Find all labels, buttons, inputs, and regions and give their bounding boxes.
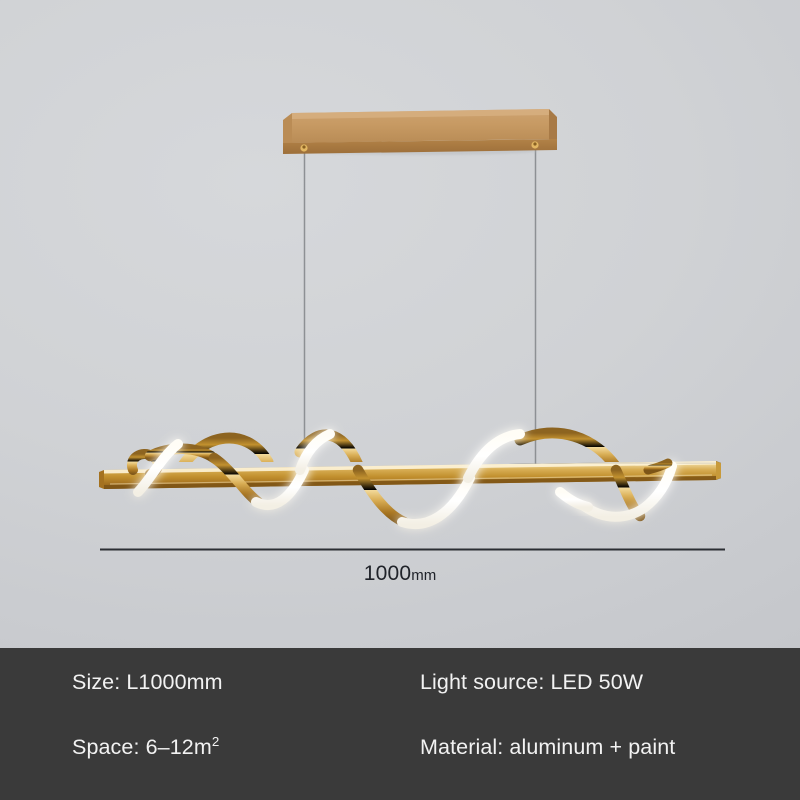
pendant-light-illustration xyxy=(0,0,800,648)
product-spec-image: 1000mm Size: L1000mm Light source: LED 5… xyxy=(0,0,800,800)
product-photo xyxy=(0,0,800,648)
spec-size: Size: L1000mm xyxy=(72,670,223,695)
spec-material: Material: aluminum + paint xyxy=(420,735,675,760)
spec-space: Space: 6–12m2 xyxy=(72,735,219,760)
ceiling-canopy xyxy=(283,109,557,155)
led-segment-7 xyxy=(560,492,588,507)
spec-space-superscript: 2 xyxy=(212,734,220,749)
led-segment-4 xyxy=(402,478,470,524)
spec-light-source: Light source: LED 50W xyxy=(420,670,643,695)
spec-space-text: Space: 6–12m xyxy=(72,735,212,759)
